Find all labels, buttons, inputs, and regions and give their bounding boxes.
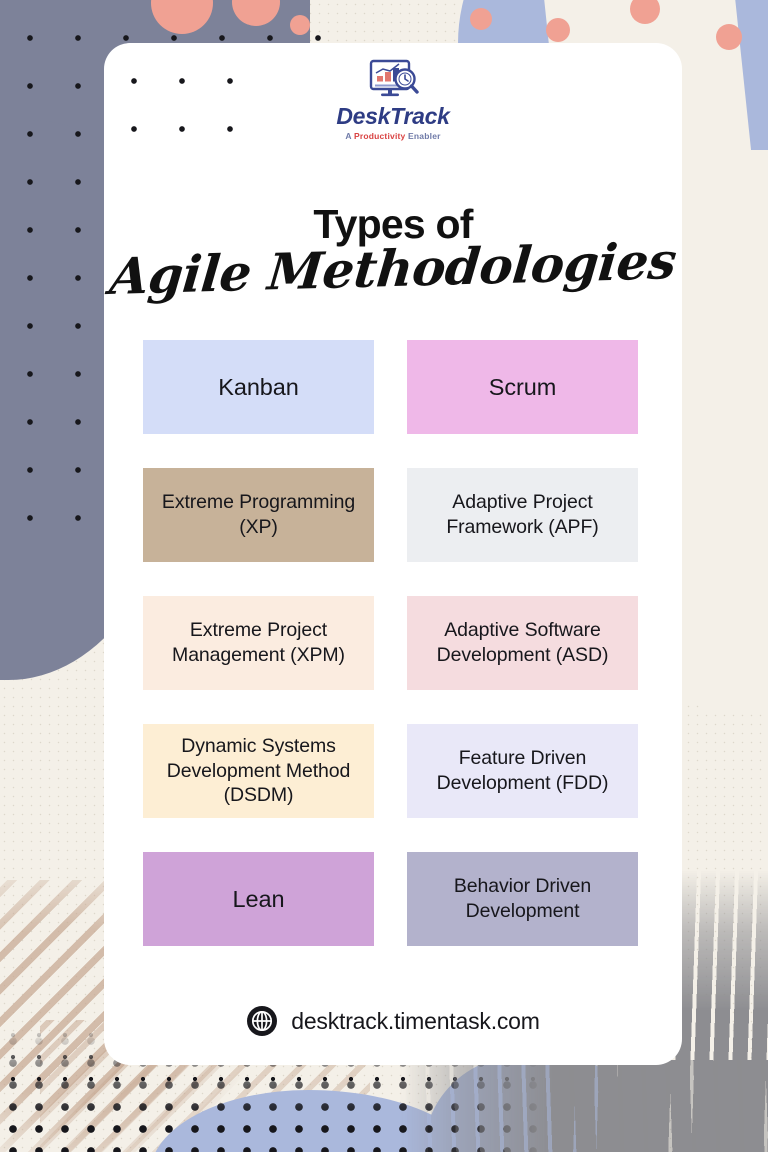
methodology-label: Kanban (218, 372, 298, 403)
website-url[interactable]: desktrack.timentask.com (291, 1008, 539, 1035)
methodology-box[interactable]: Feature Driven Development (FDD) (407, 724, 638, 818)
coral-circle (151, 0, 213, 34)
brand-name-desk: Desk (336, 103, 390, 129)
globe-icon (246, 1005, 278, 1037)
methodology-label: Behavior Driven Development (415, 874, 630, 925)
methodology-label: Dynamic Systems Development Method (DSDM… (151, 734, 366, 808)
coral-circle (470, 8, 492, 30)
methodology-box[interactable]: Scrum (407, 340, 638, 434)
brand-tagline: A Productivity Enabler (345, 131, 440, 141)
methodology-label: Extreme Project Management (XPM) (151, 618, 366, 669)
methodology-grid: KanbanScrumExtreme Programming (XP)Adapt… (143, 340, 638, 946)
brand-name-track: Track (390, 103, 449, 129)
brand-wordmark: DeskTrack (336, 103, 449, 130)
grey-brush-band (0, 1060, 768, 1152)
brand-logo: DeskTrack A Productivity Enabler (104, 59, 682, 141)
tagline-suffix: Enabler (405, 131, 440, 141)
periwinkle-blob-bottom (150, 1090, 480, 1152)
methodology-box[interactable]: Dynamic Systems Development Method (DSDM… (143, 724, 374, 818)
poster-canvas: DeskTrack A Productivity Enabler Types o… (0, 0, 768, 1152)
methodology-box[interactable]: Extreme Programming (XP) (143, 468, 374, 562)
coral-circle (630, 0, 660, 24)
tagline-highlight: Productivity (354, 131, 406, 141)
coral-circle (290, 15, 310, 35)
methodology-box[interactable]: Kanban (143, 340, 374, 434)
methodology-box[interactable]: Adaptive Project Framework (APF) (407, 468, 638, 562)
coral-circle (716, 24, 742, 50)
coral-circle (232, 0, 280, 26)
methodology-box[interactable]: Lean (143, 852, 374, 946)
methodology-label: Scrum (489, 372, 556, 403)
methodology-box[interactable]: Extreme Project Management (XPM) (143, 596, 374, 690)
methodology-box[interactable]: Adaptive Software Development (ASD) (407, 596, 638, 690)
methodology-label: Feature Driven Development (FDD) (415, 746, 630, 797)
footer: desktrack.timentask.com (104, 1005, 682, 1037)
methodology-label: Adaptive Software Development (ASD) (415, 618, 630, 669)
tagline-prefix: A (345, 131, 354, 141)
methodology-label: Lean (233, 884, 285, 915)
methodology-box[interactable]: Behavior Driven Development (407, 852, 638, 946)
content-card: DeskTrack A Productivity Enabler Types o… (104, 43, 682, 1065)
monitor-chart-clock-icon (363, 59, 423, 101)
methodology-label: Adaptive Project Framework (APF) (415, 490, 630, 541)
coral-circle (546, 18, 570, 42)
methodology-label: Extreme Programming (XP) (151, 490, 366, 541)
